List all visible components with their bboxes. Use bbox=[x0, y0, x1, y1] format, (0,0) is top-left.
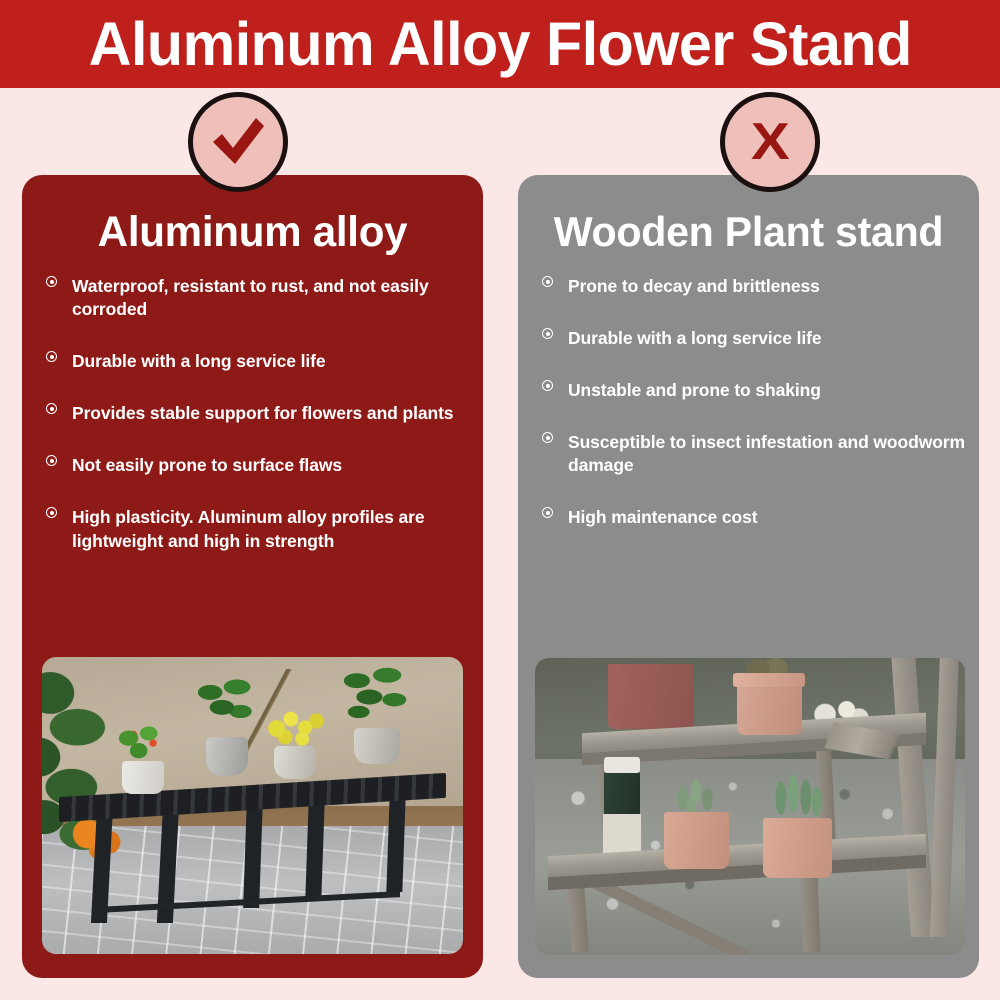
photo-plant-small-green bbox=[107, 719, 179, 767]
list-item-label: Unstable and prone to shaking bbox=[568, 380, 821, 400]
photo-pot-terracotta-succulent bbox=[664, 812, 729, 868]
list-item: Not easily prone to surface flaws bbox=[46, 454, 473, 477]
photo-pot-gray-tall bbox=[206, 737, 248, 776]
list-item-label: High plasticity. Aluminum alloy profiles… bbox=[72, 507, 424, 550]
photo-aluminum-bench bbox=[59, 785, 446, 939]
list-item-label: High maintenance cost bbox=[568, 507, 757, 527]
list-item-label: Durable with a long service life bbox=[72, 351, 326, 371]
photo-pot-terracotta-large bbox=[608, 664, 694, 729]
comparison-card-wooden: Wooden Plant stand Prone to decay and br… bbox=[518, 175, 979, 978]
photo-pot-terracotta-upper bbox=[737, 673, 802, 735]
list-item-label: Susceptible to insect infestation and wo… bbox=[568, 432, 965, 475]
bullet-dot-icon bbox=[46, 455, 57, 466]
bench-leg bbox=[386, 796, 406, 892]
list-item-label: Prone to decay and brittleness bbox=[568, 276, 820, 296]
bullet-dot-icon bbox=[542, 432, 553, 443]
product-photo-aluminum-stand bbox=[42, 657, 463, 954]
list-item-label: Waterproof, resistant to rust, and not e… bbox=[72, 276, 429, 319]
photo-plant-green-large bbox=[332, 663, 420, 731]
benefit-list-aluminum: Waterproof, resistant to rust, and not e… bbox=[46, 275, 473, 553]
photo-pot-terracotta-cactus bbox=[763, 818, 832, 877]
card-heading-wooden: Wooden Plant stand bbox=[523, 210, 975, 254]
bullet-dot-icon bbox=[542, 380, 553, 391]
photo-pot-cream bbox=[274, 746, 316, 779]
x-mark-icon: X bbox=[751, 116, 790, 168]
page-title: Aluminum Alloy Flower Stand bbox=[88, 14, 911, 75]
bottle-label bbox=[603, 814, 642, 853]
drawback-list-wooden: Prone to decay and brittleness Durable w… bbox=[542, 275, 975, 530]
bench-leg bbox=[243, 800, 263, 908]
bullet-dot-icon bbox=[46, 403, 57, 414]
list-item: Durable with a long service life bbox=[46, 350, 473, 373]
photo-pot-white bbox=[122, 761, 164, 794]
photo-plant-green-tall bbox=[185, 672, 269, 740]
bench-leg bbox=[305, 799, 325, 901]
bullet-dot-icon bbox=[46, 276, 57, 287]
card-heading-aluminum: Aluminum alloy bbox=[27, 210, 479, 255]
bullet-dot-icon bbox=[542, 507, 553, 518]
list-item-label: Durable with a long service life bbox=[568, 328, 822, 348]
pot-rim bbox=[733, 673, 805, 687]
check-mark-icon bbox=[208, 114, 268, 170]
bullet-dot-icon bbox=[542, 276, 553, 287]
check-badge bbox=[188, 92, 288, 192]
x-badge: X bbox=[720, 92, 820, 192]
photo-pot-gray bbox=[354, 728, 400, 764]
list-item: Unstable and prone to shaking bbox=[542, 379, 975, 402]
header-banner: Aluminum Alloy Flower Stand bbox=[0, 0, 1000, 88]
list-item: Waterproof, resistant to rust, and not e… bbox=[46, 275, 473, 321]
comparison-card-aluminum: Aluminum alloy Waterproof, resistant to … bbox=[22, 175, 483, 978]
bullet-dot-icon bbox=[46, 351, 57, 362]
photo-cactus-cluster bbox=[763, 765, 832, 824]
bottle-cap bbox=[604, 757, 641, 773]
bullet-dot-icon bbox=[46, 507, 57, 518]
photo-plant-yellow-flowers bbox=[261, 705, 333, 753]
list-item-label: Provides stable support for flowers and … bbox=[72, 403, 453, 423]
list-item: High plasticity. Aluminum alloy profiles… bbox=[46, 506, 473, 552]
list-item: Durable with a long service life bbox=[542, 327, 975, 350]
list-item: Susceptible to insect infestation and wo… bbox=[542, 431, 975, 477]
bullet-dot-icon bbox=[542, 328, 553, 339]
list-item-label: Not easily prone to surface flaws bbox=[72, 455, 342, 475]
list-item: High maintenance cost bbox=[542, 506, 975, 529]
list-item: Provides stable support for flowers and … bbox=[46, 402, 473, 425]
stand-leg bbox=[800, 875, 820, 952]
product-photo-wooden-stand bbox=[535, 658, 965, 955]
list-item: Prone to decay and brittleness bbox=[542, 275, 975, 298]
